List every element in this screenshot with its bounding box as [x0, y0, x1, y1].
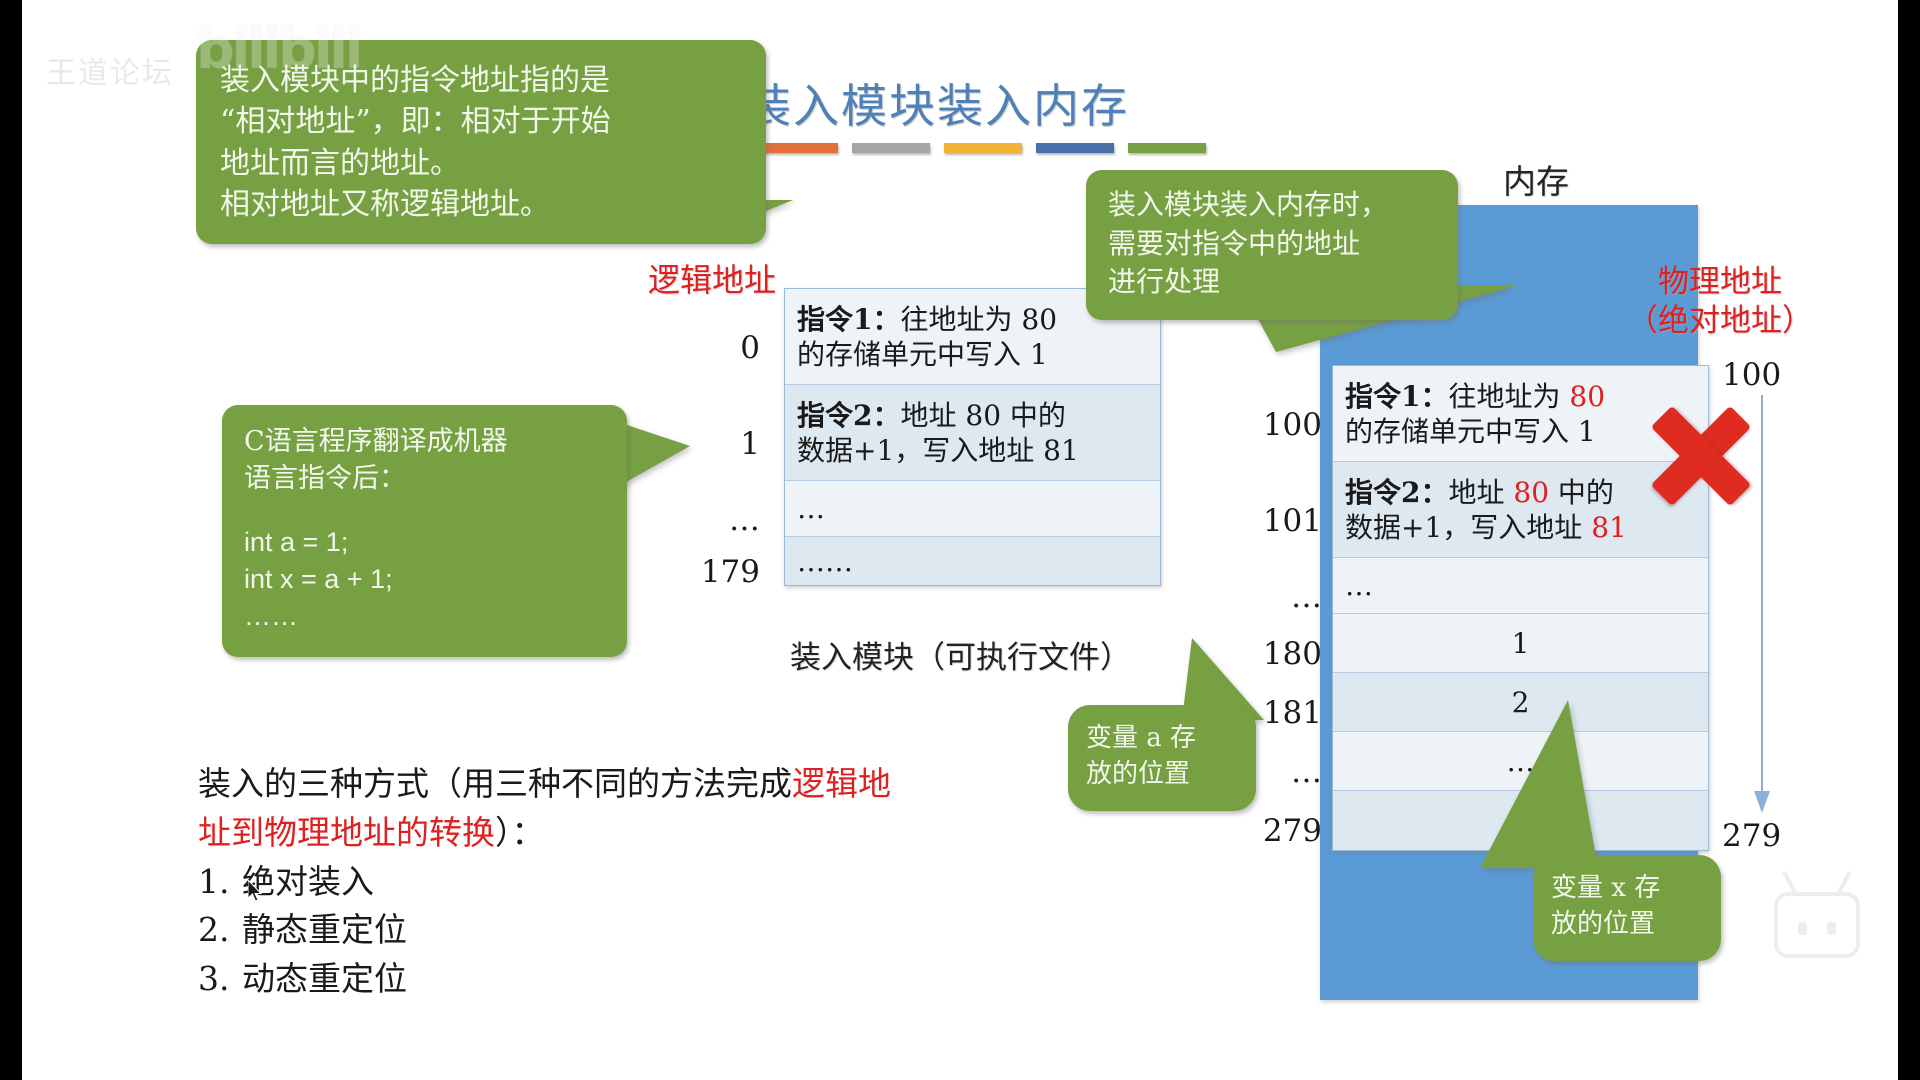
callout-var-a: 变量 a 存 放的位置 [1068, 705, 1256, 811]
memory-instruction-1-text: 指令1：往地址为 80的存储单元中写入 1 [1345, 379, 1605, 449]
callout-c-language: C语言程序翻译成机器 语言指令后： int a = 1; int x = a +… [222, 405, 627, 657]
callout-line: 装入模块装入内存时， [1108, 186, 1440, 225]
table-cell-ellipsis: …… [797, 544, 853, 579]
instr2-prefix: 指令2： [1345, 476, 1448, 509]
callout-relative-address: 装入模块中的指令地址指的是 “相对地址”，即：相对于开始 地址而言的地址。 相对… [196, 40, 766, 244]
module-caption: 装入模块（可执行文件） [790, 632, 1131, 677]
list-item: 3.动态重定位 [198, 955, 891, 1004]
physical-address-label: 物理地址 （绝对地址） [1627, 263, 1813, 341]
address-cell: 279 [1222, 802, 1322, 861]
slide-canvas: 王道论坛 bilibili 装入模块装入内存 装入模块中的指令地址指的是 “相对… [0, 0, 1920, 1080]
paragraph-black-1: 装入的三种方式（用三种不同的方法完成 [198, 764, 792, 803]
callout-line: 放的位置 [1086, 757, 1240, 793]
address-cell: 179 [660, 548, 760, 596]
memory-label: 内存 [1503, 155, 1569, 203]
instr1-mid: 往地址为 [1448, 380, 1569, 413]
callout-line: 需要对指令中的地址 [1108, 225, 1440, 264]
mouse-cursor-icon [248, 880, 264, 904]
list-label: 静态重定位 [242, 910, 407, 949]
physical-address-line1: 物理地址 [1627, 263, 1813, 302]
letterbox-bar-right [1898, 0, 1920, 1080]
memory-instruction-2-text: 指令2：地址 80 中的数据+1，写入地址 81 [1345, 475, 1627, 545]
list-number: 1. [198, 858, 242, 907]
callout-line: C语言程序翻译成机器 [244, 423, 607, 460]
page-title: 装入模块装入内存 [745, 70, 1129, 136]
instr2-tail: 中的 [1549, 476, 1614, 509]
callout-code-line: int a = 1; [244, 524, 607, 561]
watermark-forum-text: 王道论坛 [46, 48, 174, 92]
callout-line: 变量 a 存 [1086, 721, 1240, 757]
address-cell: 0 [660, 300, 760, 396]
instr1-line2: 的存储单元中写入 1 [1345, 415, 1596, 448]
table-row: 指令2：地址 80 中的数据+1，写入地址 81 [785, 385, 1160, 481]
load-module-table: 指令1：往地址为 80的存储单元中写入 1 指令2：地址 80 中的数据+1，写… [784, 288, 1161, 586]
red-cross-icon [1645, 400, 1757, 512]
callout-line: 地址而言的地址。 [220, 143, 744, 184]
instruction-2-text: 指令2：地址 80 中的数据+1，写入地址 81 [797, 398, 1079, 468]
callout-tail-var-x [1480, 700, 1598, 868]
list-number: 3. [198, 955, 242, 1004]
callout-code-line: int x = a + 1; [244, 561, 607, 598]
callout-line: “相对地址”，即：相对于开始 [220, 101, 744, 142]
memory-value-cell: 1 [1512, 626, 1530, 661]
letterbox-bar-left [0, 0, 22, 1080]
title-underline-bars [760, 143, 1206, 153]
instruction-1-text: 指令1：往地址为 80的存储单元中写入 1 [797, 302, 1057, 372]
list-item: 2.静态重定位 [198, 906, 891, 955]
table-cell-ellipsis: … [1345, 568, 1373, 603]
logical-address-label: 逻辑地址 [648, 255, 776, 301]
instr2-addr: 80 [1513, 476, 1549, 509]
physical-range-top: 100 [1722, 357, 1781, 393]
callout-line: 语言指令后： [244, 460, 607, 497]
table-row: … [1333, 558, 1708, 614]
table-row: … [785, 481, 1160, 537]
list-number: 2. [198, 906, 242, 955]
instr2-line2b: 81 [1591, 511, 1627, 544]
address-cell: 100 [1222, 377, 1322, 473]
paragraph-black-2: ）： [495, 813, 545, 852]
callout-var-x: 变量 x 存 放的位置 [1533, 855, 1721, 961]
instr2-mid: 地址 [1448, 476, 1513, 509]
paragraph-red-2: 址到物理地址的转换 [198, 813, 495, 852]
callout-code-line: …… [244, 598, 607, 635]
table-row: 1 [1333, 614, 1708, 673]
bilibili-player-badge-icon [1774, 892, 1860, 958]
list-item: 1.绝对装入 [198, 858, 891, 907]
list-label: 动态重定位 [242, 959, 407, 998]
instr2-line2a: 数据+1，写入地址 [1345, 511, 1591, 544]
address-cell: 101 [1222, 473, 1322, 569]
callout-line: 相对地址又称逻辑地址。 [220, 184, 744, 225]
instr1-addr: 80 [1569, 380, 1605, 413]
table-row: …… [785, 537, 1160, 585]
callout-spacer [244, 498, 607, 524]
table-cell-ellipsis: … [797, 491, 825, 526]
physical-range-bottom: 279 [1722, 818, 1781, 854]
paragraph-line-1: 装入的三种方式（用三种不同的方法完成逻辑地 [198, 760, 891, 809]
callout-line: 装入模块中的指令地址指的是 [220, 60, 744, 101]
paragraph-line-2: 址到物理地址的转换）： [198, 809, 891, 858]
physical-address-line2: （绝对地址） [1627, 302, 1813, 341]
paragraph-red-1: 逻辑地 [792, 764, 891, 803]
address-cell: … [660, 492, 760, 548]
callout-line: 放的位置 [1551, 907, 1705, 943]
callout-line: 变量 x 存 [1551, 871, 1705, 907]
loading-methods-paragraph: 装入的三种方式（用三种不同的方法完成逻辑地 址到物理地址的转换）： 1.绝对装入… [198, 760, 891, 1004]
address-cell: … [1222, 569, 1322, 625]
callout-line: 进行处理 [1108, 263, 1440, 302]
instr1-prefix: 指令1： [1345, 380, 1448, 413]
callout-load-processing: 装入模块装入内存时， 需要对指令中的地址 进行处理 [1086, 170, 1458, 320]
